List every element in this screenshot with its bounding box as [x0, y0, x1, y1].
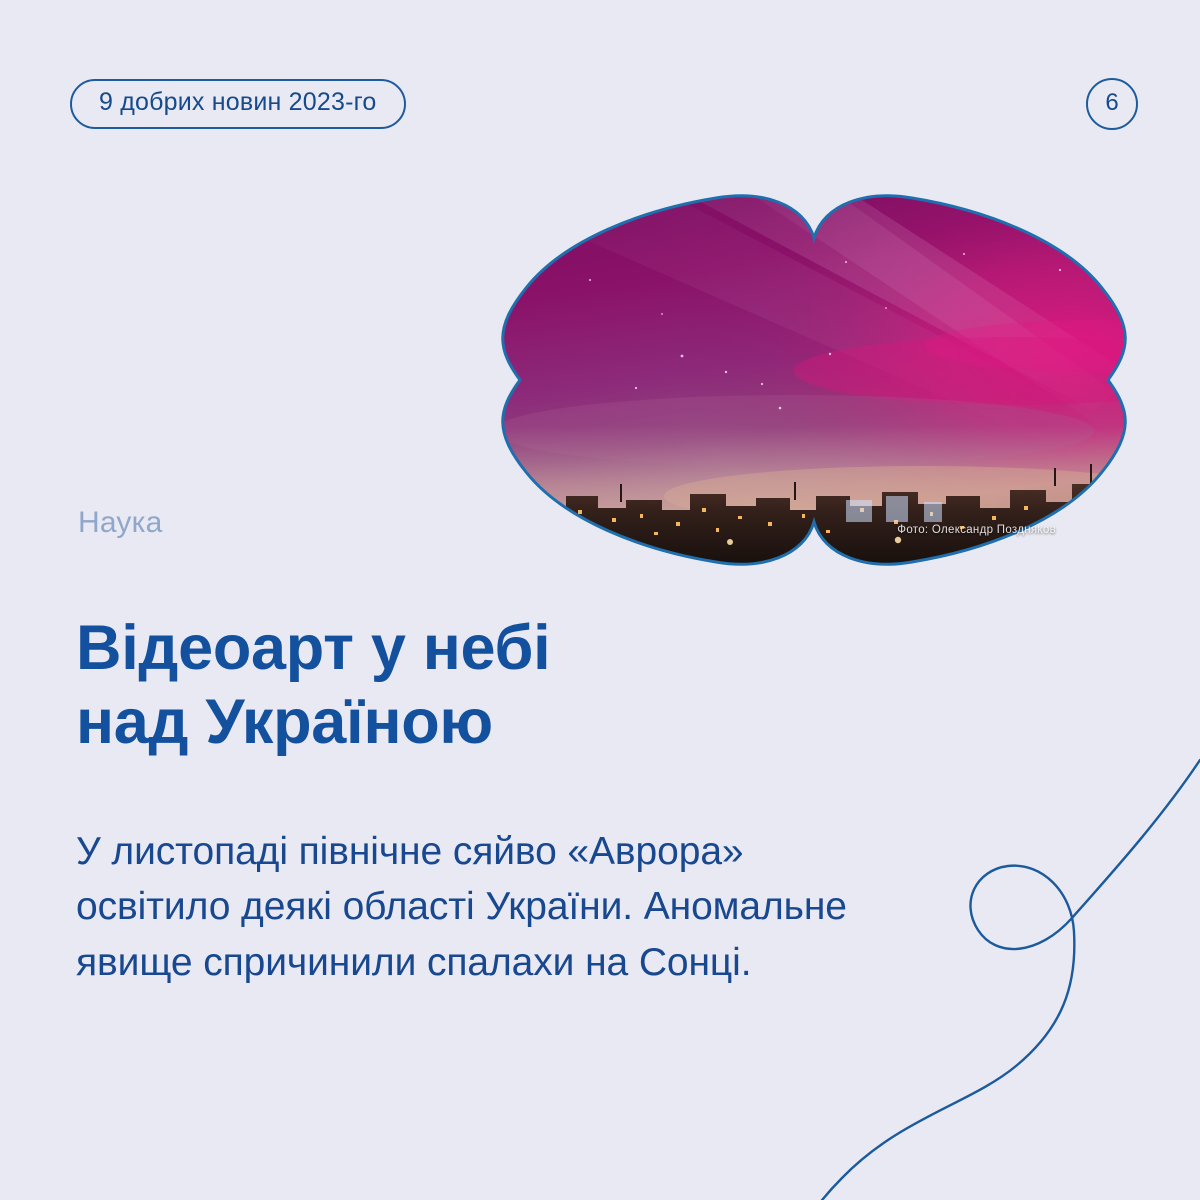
body-line-2: освітило деякі області України. Аномальн…	[76, 879, 996, 934]
headline-line-1: Відеоарт у небі	[76, 612, 696, 686]
series-badge[interactable]: 9 добрих новин 2023-го	[70, 79, 406, 129]
article-category: Наука	[78, 506, 162, 539]
photo-blob: Фото: Олександр Поздняков	[494, 196, 1134, 564]
page-number-badge: 6	[1086, 78, 1138, 130]
article-body: У листопаді північне сяйво «Аврора» осві…	[76, 824, 996, 990]
body-line-1: У листопаді північне сяйво «Аврора»	[76, 824, 996, 879]
photo-image-content	[494, 156, 1200, 564]
headline-line-2: над Україною	[76, 686, 696, 760]
photo-shape-svg	[494, 196, 1134, 564]
body-line-3: явище спричинили спалахи на Сонці.	[76, 935, 996, 990]
page-title: Відеоарт у небі над Україною	[76, 612, 696, 759]
slide-root: 9 добрих новин 2023-го 6	[0, 0, 1200, 1200]
slide-header: 9 добрих новин 2023-го 6	[70, 76, 1138, 132]
